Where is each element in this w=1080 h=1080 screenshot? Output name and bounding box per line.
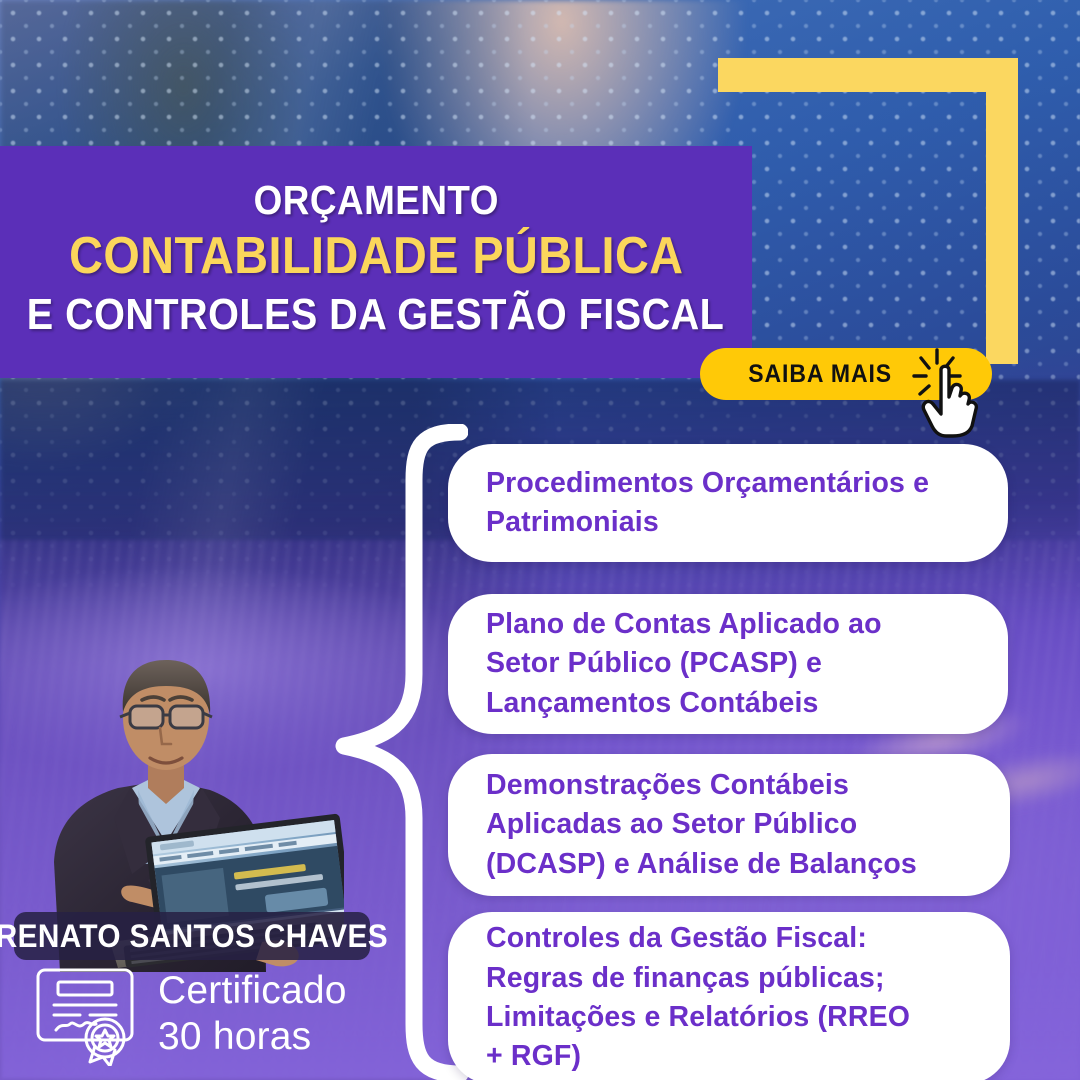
topic-card-text: Plano de Contas Aplicado ao Setor Públic… [486,605,882,723]
yellow-bracket-vertical [986,58,1018,364]
topic-card-text: Demonstrações Contábeis Aplicadas ao Set… [486,766,917,884]
promo-poster: ORÇAMENTO CONTABILIDADE PÚBLICA E CONTRO… [0,0,1080,1080]
saiba-mais-label: SAIBA MAIS [748,360,892,389]
topic-card[interactable]: Procedimentos Orçamentários e Patrimonia… [448,444,1008,562]
title-line-2: CONTABILIDADE PÚBLICA [69,229,683,284]
topic-card[interactable]: Plano de Contas Aplicado ao Setor Públic… [448,594,1008,734]
topic-card-text: Controles da Gestão Fiscal: Regras de fi… [486,919,910,1076]
certificate-label: Certificado 30 horas [158,968,408,1060]
topic-card[interactable]: Controles da Gestão Fiscal: Regras de fi… [448,912,1010,1080]
pointing-hand-cursor-icon [908,342,1016,438]
yellow-bracket-horizontal [718,58,1018,92]
presenter-name: RENATO SANTOS CHAVES [0,918,388,955]
title-line-1: ORÇAMENTO [253,179,498,222]
title-band: ORÇAMENTO CONTABILIDADE PÚBLICA E CONTRO… [0,146,752,378]
title-line-3: E CONTROLES DA GESTÃO FISCAL [27,292,725,339]
certificate-seal-icon [32,962,148,1066]
presenter-name-badge: RENATO SANTOS CHAVES [14,912,370,960]
topic-card[interactable]: Demonstrações Contábeis Aplicadas ao Set… [448,754,1010,896]
topic-card-text: Procedimentos Orçamentários e Patrimonia… [486,464,929,543]
